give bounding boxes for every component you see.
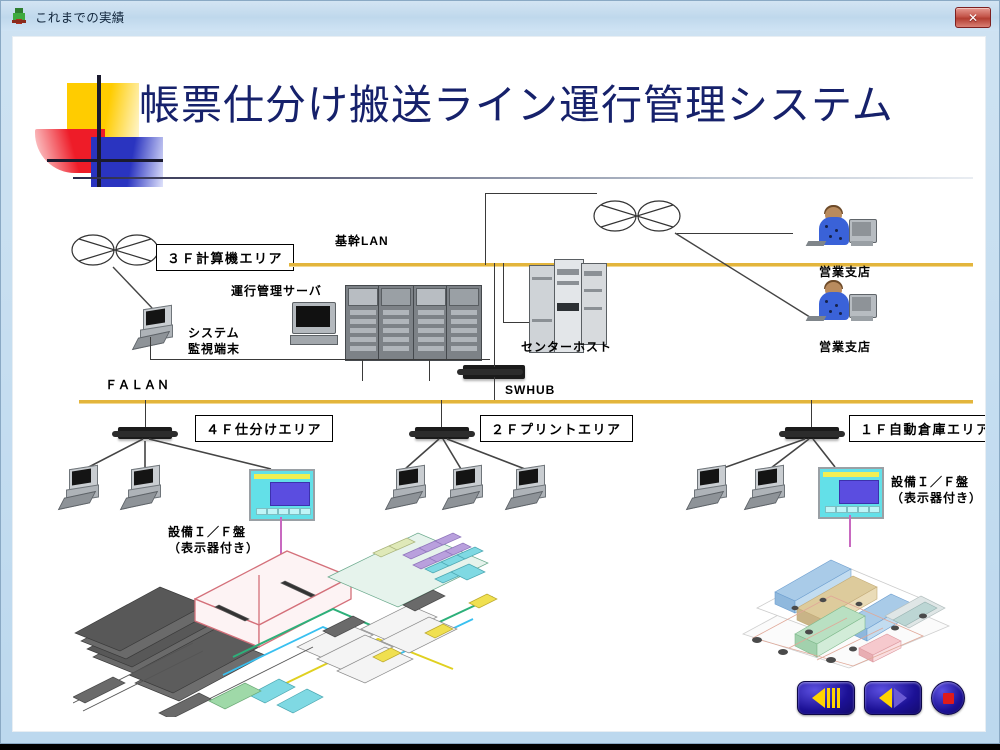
branch-office-icon-1 — [805, 207, 883, 257]
if-panel-label-1f-line1: 設備Ｉ／Ｆ盤 — [891, 475, 969, 489]
link-rack1-down — [362, 359, 363, 381]
client-pc-4f-1 — [61, 465, 107, 509]
close-icon: ✕ — [968, 12, 978, 24]
client-pc-2f-3 — [508, 465, 554, 509]
link-falan-to-hub-4f — [145, 400, 146, 427]
link-cloud-to-backbone — [485, 193, 486, 265]
stop-button[interactable] — [931, 681, 965, 715]
window-title: これまでの実績 — [35, 7, 125, 26]
operation-server-console-icon — [290, 302, 336, 344]
wan-cloud-icon-left — [71, 233, 159, 267]
link-backbone-to-centerhost — [503, 263, 504, 323]
logo-vertical-rule — [97, 75, 101, 187]
app-icon — [10, 7, 28, 25]
slide-canvas: 帳票仕分け搬送ライン運行管理システム ３Ｆ計算機エリア 基幹LAN — [13, 37, 985, 731]
client-pc-2f-2 — [445, 465, 491, 509]
triangle-left-icon-2 — [879, 688, 892, 708]
client-pc-4f-2 — [123, 465, 169, 509]
link-monitor-to-bus — [150, 337, 151, 360]
client-pc-1f-2 — [747, 465, 793, 509]
triangle-left-icon — [812, 688, 825, 708]
network-label-falan: ＦＡＬＡＮ — [105, 377, 170, 393]
falan-line — [79, 400, 973, 403]
sorting-line-illustration — [73, 507, 523, 717]
equipment-if-panel-1f — [818, 467, 884, 519]
automated-warehouse-illustration — [735, 542, 965, 672]
stop-square-icon — [943, 693, 954, 704]
node-label-system-monitor-terminal: システム 監視端末 — [188, 325, 240, 357]
link-3f-internal-bus — [150, 359, 490, 360]
triangle-right-icon — [894, 688, 907, 708]
link-backbone-to-swhub — [494, 263, 495, 367]
client-pc-2f-1 — [388, 465, 434, 509]
page-title: 帳票仕分け搬送ライン運行管理システム — [139, 83, 894, 128]
close-button[interactable]: ✕ — [955, 7, 991, 28]
bars-icon — [827, 688, 840, 708]
link-rack2-down — [429, 359, 430, 381]
server-rack-1a — [345, 285, 381, 361]
node-label-operation-server: 運行管理サーバ — [231, 283, 322, 299]
logo-horizontal-rule — [47, 159, 163, 162]
branch-office-icon-2 — [805, 282, 883, 332]
previous-section-button[interactable] — [797, 681, 855, 715]
area-box-3f: ３Ｆ計算機エリア — [156, 244, 294, 271]
node-label-line1: システム — [188, 326, 240, 340]
system-monitor-terminal-icon — [135, 305, 181, 349]
client-pc-1f-1 — [689, 465, 735, 509]
server-rack-1b — [378, 285, 414, 361]
if-panel-label-1f: 設備Ｉ／Ｆ盤 （表示器付き） — [891, 474, 982, 506]
link-falan-to-hub-2f — [441, 400, 442, 427]
application-window: これまでの実績 ✕ 帳票仕分け搬送ライン運行管理システム — [0, 0, 1000, 744]
title-underline — [73, 177, 973, 179]
link-falan-to-hub-1f — [811, 400, 812, 427]
server-rack-2b — [446, 285, 482, 361]
node-label-branch-office-2: 営業支店 — [819, 339, 871, 355]
previous-slide-button[interactable] — [864, 681, 922, 715]
node-label-branch-office-1: 営業支店 — [819, 264, 871, 280]
logo-square-blue — [91, 137, 163, 187]
if-panel-label-1f-line2: （表示器付き） — [891, 491, 982, 505]
server-rack-2a — [413, 285, 449, 361]
link-cloud-to-branch-2 — [663, 227, 823, 327]
network-label-swhub: SWHUB — [505, 382, 555, 398]
network-label-backbone-lan: 基幹LAN — [335, 233, 389, 249]
slide-navigation — [797, 681, 965, 715]
link-top-horizontal — [485, 193, 597, 194]
title-bar: これまでの実績 ✕ — [1, 1, 999, 31]
node-label-center-host: センターホスト — [521, 339, 612, 355]
node-label-line2: 監視端末 — [188, 342, 240, 356]
